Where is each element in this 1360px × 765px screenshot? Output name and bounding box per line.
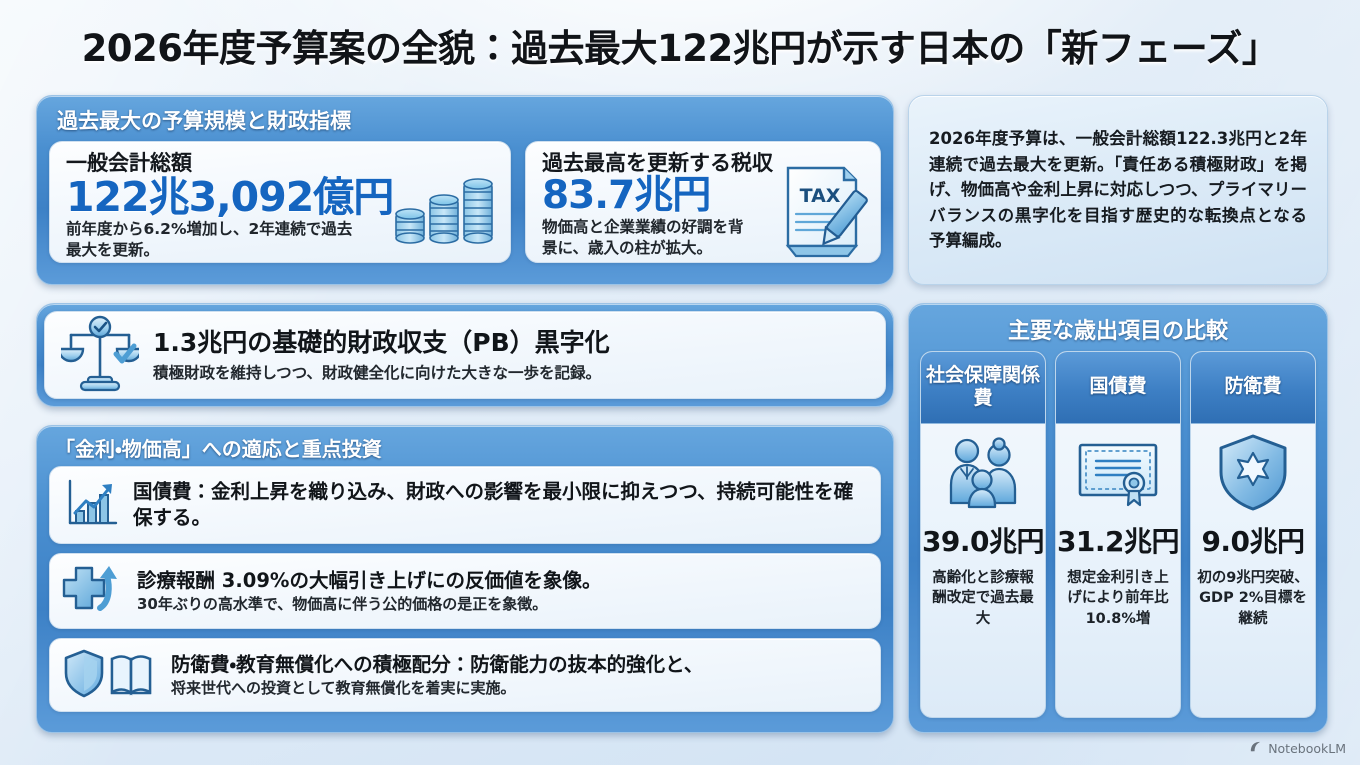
panel-priority-investment: 「金利・物価高」への適応と重点投資 国債費: [36, 425, 894, 733]
comparison-value-1: 31.2兆円: [1056, 520, 1180, 560]
bar-chart-up-icon: [62, 475, 120, 535]
priority-item-0-head: 国債費：金利上昇を織り込み、財政への影響を最小限に抑えつつ、持続可能性を確保する…: [133, 479, 866, 531]
priority-item-medical-fee: 診療報酬 3.09%の大幅引き上げにの反価値を象像。 30年ぶりの高水準で、物価…: [49, 553, 881, 629]
panel-budget-heading: 過去最大の予算規模と財政指標: [37, 96, 893, 141]
tax-document-icon: TAX: [774, 158, 870, 266]
comparison-value-2: 9.0兆円: [1191, 520, 1315, 560]
panel-summary: 2026年度予算は、一般会計総額122.3兆円と2年連続で過去最大を更新。「責任…: [908, 95, 1328, 285]
priority-item-2-head: 防衛費・教育無償化への積極配分：防衛能力の抜本的強化と、: [171, 652, 703, 678]
comparison-desc-2: 初の9兆円突破、GDP 2%目標を継続: [1191, 560, 1315, 629]
comparison-category-1: 国債費: [1056, 352, 1180, 424]
comparison-column-defense: 防衛費 9.0兆円 初の9兆円突破、GDP 2%目標を継続: [1190, 351, 1316, 718]
balance-scale-icon: [61, 313, 139, 397]
page-title: 2026年度予算案の全貌：過去最大122兆円が示す日本の「新フェーズ」: [0, 18, 1360, 72]
summary-text: 2026年度予算は、一般会計総額122.3兆円と2年連続で過去最大を更新。「責任…: [909, 126, 1327, 254]
pb-heading: 1.3兆円の基礎的財政収支（PB）黒字化: [153, 328, 610, 358]
elderly-family-icon: [921, 424, 1045, 520]
priority-item-1-sub: 30年ぶりの高水準で、物価高に伴う公的価格の是正を象徴。: [137, 595, 601, 615]
tax-icon-text: TAX: [800, 185, 841, 207]
priority-item-1-head: 診療報酬 3.09%の大幅引き上げにの反価値を象像。: [137, 568, 601, 594]
shield-star-icon: [1191, 424, 1315, 520]
shield-book-icon: [62, 647, 158, 703]
total-budget-label: 一般会計総額: [66, 152, 496, 175]
watermark-label: NotebookLM: [1268, 741, 1346, 756]
comparison-column-social-security: 社会保障関係費: [920, 351, 1046, 718]
certificate-icon: [1056, 424, 1180, 520]
panel-budget-scale: 過去最大の予算規模と財政指標 一般会計総額 122兆3,092億円 前年度から6…: [36, 95, 894, 285]
pb-card: 1.3兆円の基礎的財政収支（PB）黒字化 積極財政を維持しつつ、財政健全化に向け…: [44, 311, 886, 399]
medical-cross-arrow-icon: [62, 562, 124, 620]
watermark: NotebookLM: [1248, 739, 1346, 757]
comparison-desc-0: 高齢化と診療報酬改定で過去最大: [921, 560, 1045, 629]
comparison-category-2: 防衛費: [1191, 352, 1315, 424]
panel-expenditure-comparison: 主要な歳出項目の比較 社会保障関係費: [908, 303, 1328, 733]
comparison-desc-1: 想定金利引き上げにより前年比10.8%増: [1056, 560, 1180, 629]
comparison-heading: 主要な歳出項目の比較: [909, 304, 1327, 351]
comparison-category-0: 社会保障関係費: [921, 352, 1045, 424]
pb-note: 積極財政を維持しつつ、財政健全化に向けた大きな一歩を記録。: [153, 361, 610, 383]
panel-primary-balance: 1.3兆円の基礎的財政収支（PB）黒字化 積極財政を維持しつつ、財政健全化に向け…: [36, 303, 894, 407]
card-total-budget: 一般会計総額 122兆3,092億円 前年度から6.2%増加し、2年連続で過去最…: [49, 141, 511, 263]
card-tax-revenue: 過去最高を更新する税収 83.7兆円 物価高と企業業績の好調を背景に、歳入の柱が…: [525, 141, 881, 263]
coin-stack-icon: [392, 174, 498, 252]
priority-item-defense-education: 防衛費・教育無償化への積極配分：防衛能力の抜本的強化と、 将来世代への投資として…: [49, 638, 881, 712]
priority-item-bond-cost: 国債費：金利上昇を織り込み、財政への影響を最小限に抑えつつ、持続可能性を確保する…: [49, 466, 881, 544]
tax-revenue-note: 物価高と企業業績の好調を背景に、歳入の柱が拡大。: [542, 217, 754, 258]
notebooklm-icon: [1248, 739, 1263, 757]
comparison-value-0: 39.0兆円: [921, 520, 1045, 560]
priority-item-2-sub: 将来世代への投資として教育無償化を着実に実施。: [171, 679, 703, 699]
total-budget-note: 前年度から6.2%増加し、2年連続で過去最大を更新。: [66, 219, 366, 260]
comparison-column-debt-service: 国債費: [1055, 351, 1181, 718]
priority-heading: 「金利・物価高」への適応と重点投資: [37, 426, 893, 466]
